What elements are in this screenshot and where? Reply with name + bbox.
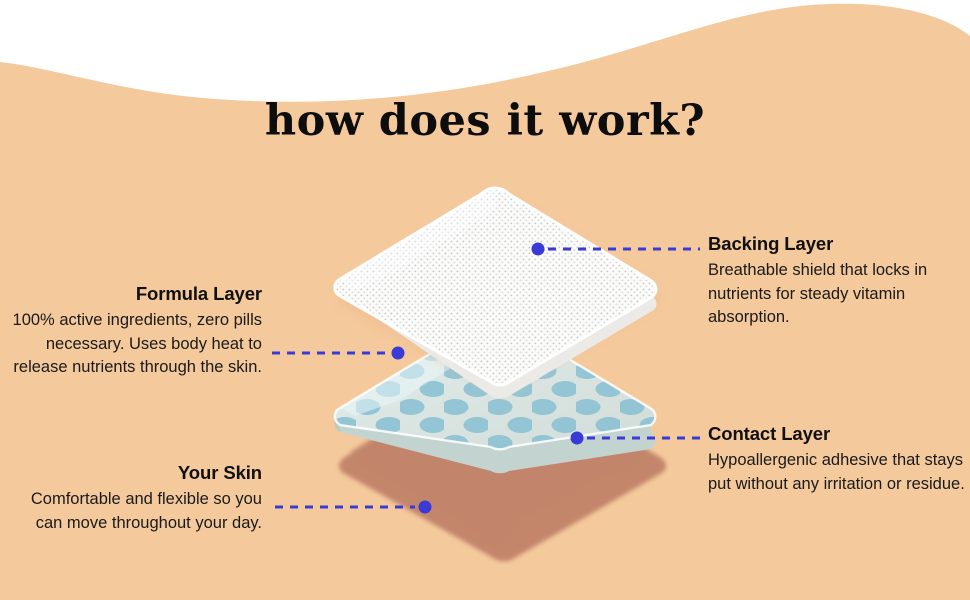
infographic-canvas: how does it work? Backing Layer Breathab…	[0, 0, 970, 600]
callout-skin-body: Comfortable and flexible so you can move…	[10, 488, 262, 535]
leader-formula[interactable]	[272, 347, 405, 360]
callout-contact-body: Hypoallergenic adhesive that stays put w…	[708, 449, 966, 496]
callout-backing-title: Backing Layer	[708, 233, 966, 254]
leader-skin[interactable]	[275, 501, 432, 514]
leader-backing[interactable]	[532, 243, 701, 256]
leader-dot-formula[interactable]	[392, 347, 405, 360]
page-title: how does it work?	[0, 100, 970, 143]
leader-dot-skin[interactable]	[419, 501, 432, 514]
callout-contact-layer: Contact Layer Hypoallergenic adhesive th…	[708, 423, 966, 496]
callout-formula-layer: Formula Layer 100% active ingredients, z…	[10, 283, 262, 380]
leader-contact[interactable]	[571, 432, 701, 445]
callout-skin-title: Your Skin	[10, 462, 262, 483]
callout-contact-title: Contact Layer	[708, 423, 966, 444]
callout-backing-body: Breathable shield that locks in nutrient…	[708, 259, 966, 329]
leader-dot-contact[interactable]	[571, 432, 584, 445]
callout-your-skin: Your Skin Comfortable and flexible so yo…	[10, 462, 262, 535]
callout-formula-body: 100% active ingredients, zero pills nece…	[10, 309, 262, 379]
callout-formula-title: Formula Layer	[10, 283, 262, 304]
callout-backing-layer: Backing Layer Breathable shield that loc…	[708, 233, 966, 330]
leader-dot-backing[interactable]	[532, 243, 545, 256]
